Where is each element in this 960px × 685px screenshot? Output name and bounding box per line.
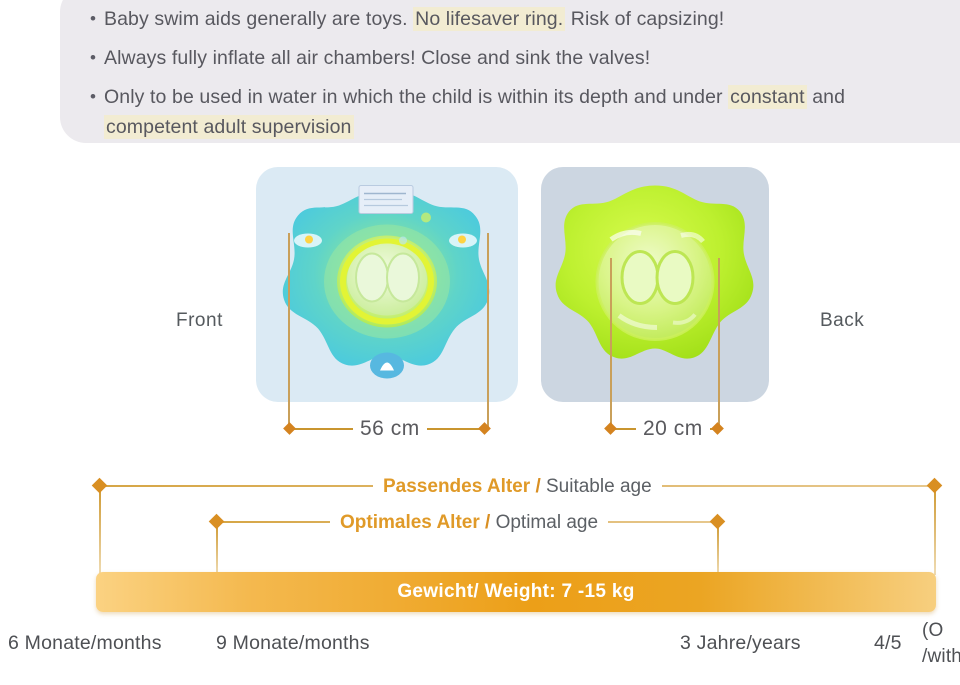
front-dim-left-extension — [288, 233, 290, 429]
suitable-age-right-stem — [934, 487, 936, 575]
weight-range-bar: Gewicht/ Weight: 7 -15 kg — [96, 572, 936, 612]
weight-range-label: Gewicht/ Weight: 7 -15 kg — [96, 581, 936, 603]
back-view-label: Back — [820, 310, 864, 332]
front-dimension-label: 56 cm — [353, 417, 427, 441]
suitable-age-german: Passendes Alter — [383, 476, 530, 497]
optimal-age-right-stem — [717, 523, 719, 575]
warning-text-2: Always fully inflate all air chambers! C… — [104, 43, 650, 73]
warning-banner: • Baby swim aids generally are toys. No … — [60, 0, 960, 143]
warning-bullet-1: • Baby swim aids generally are toys. No … — [90, 4, 942, 34]
swim-ring-front-illustration — [256, 167, 518, 402]
warning-bullet-2: • Always fully inflate all air chambers!… — [90, 43, 942, 73]
front-view-label: Front — [176, 310, 223, 332]
front-dim-right-extension — [487, 233, 489, 429]
warning-text-1: Baby swim aids generally are toys. No li… — [104, 4, 724, 34]
suitable-age-left-stem — [99, 487, 101, 575]
optimal-age-label: Optimales Alter / Optimal age — [330, 512, 608, 534]
axis-label-6-months: 6 Monate/months — [8, 632, 162, 655]
back-dim-right-extension — [718, 258, 720, 429]
axis-label-3-years: 3 Jahre/years — [680, 632, 801, 655]
optimal-age-separator: / — [485, 512, 490, 533]
axis-label-truncated: (O /with — [922, 618, 960, 670]
optimal-age-german: Optimales Alter — [340, 512, 480, 533]
back-product-photo — [541, 167, 769, 402]
bullet-icon: • — [90, 43, 104, 73]
optimal-age-english: Optimal age — [496, 512, 598, 533]
bullet-icon: • — [90, 4, 104, 34]
suitable-age-separator: / — [535, 476, 540, 497]
axis-label-truncated-line1: (O — [922, 618, 960, 644]
front-product-photo — [256, 167, 518, 402]
bullet-icon: • — [90, 82, 104, 112]
warning-text-3: Only to be used in water in which the ch… — [104, 82, 845, 142]
axis-label-truncated-line2: /with — [922, 644, 960, 670]
warning-bullet-3: • Only to be used in water in which the … — [90, 82, 942, 142]
suitable-age-english: Suitable age — [546, 476, 652, 497]
back-dim-left-extension — [610, 258, 612, 429]
swim-ring-back-illustration — [541, 167, 769, 402]
axis-label-4-5: 4/5 — [874, 632, 902, 655]
optimal-age-left-stem — [216, 523, 218, 575]
suitable-age-label: Passendes Alter / Suitable age — [373, 476, 662, 498]
back-dimension-label: 20 cm — [636, 417, 710, 441]
axis-label-9-months: 9 Monate/months — [216, 632, 370, 655]
